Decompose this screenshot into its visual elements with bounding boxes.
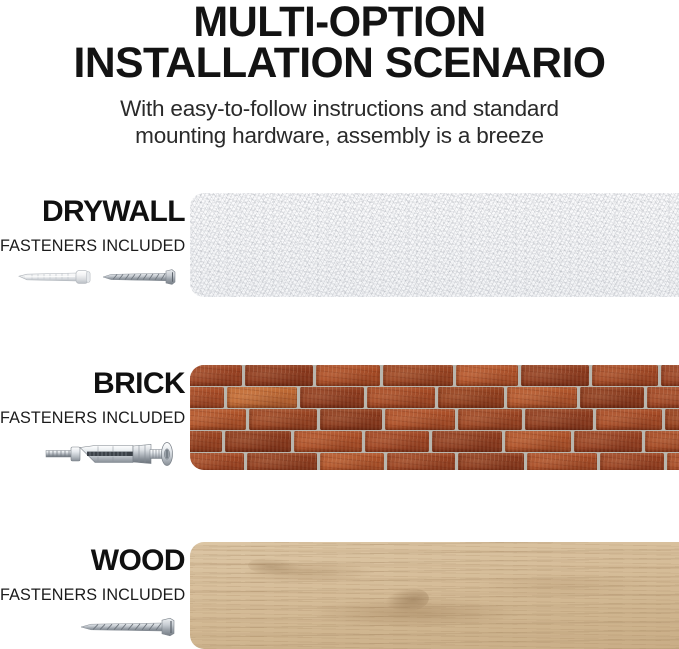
- wall-anchor-icon: [15, 267, 93, 287]
- material-name-brick: BRICK: [0, 369, 185, 399]
- fasteners-caption-wood: FASTENERS INCLUDED: [0, 586, 185, 605]
- brick-surface-swatch: [190, 365, 679, 470]
- material-row-brick: BRICK FASTENERS INCLUDED: [0, 365, 679, 470]
- wood-surface-swatch: [190, 542, 679, 649]
- screw-icon: [101, 267, 183, 287]
- molly-bolt-icon: [43, 439, 183, 469]
- page-subtitle: With easy-to-follow instructions and sta…: [0, 95, 679, 150]
- brick-pattern: [190, 365, 679, 470]
- fasteners-caption-drywall: FASTENERS INCLUDED: [0, 237, 185, 256]
- material-row-wood: WOOD FASTENERS INCLUDED: [0, 542, 679, 649]
- brick-hardware-group: [0, 439, 185, 469]
- header: MULTI-OPTION INSTALLATION SCENARIO With …: [0, 0, 679, 149]
- material-name-drywall: DRYWALL: [0, 197, 185, 227]
- drywall-hardware-group: [0, 267, 185, 287]
- material-name-wood: WOOD: [0, 546, 185, 576]
- page-title-line-1: MULTI-OPTION: [10, 2, 669, 43]
- wood-hardware-group: [0, 616, 185, 638]
- brick-label-column: BRICK FASTENERS INCLUDED: [0, 365, 190, 470]
- wood-screw-icon: [79, 616, 183, 638]
- wood-grain-knot: [384, 586, 430, 614]
- drywall-label-column: DRYWALL FASTENERS INCLUDED: [0, 193, 190, 297]
- material-row-drywall: DRYWALL FASTENERS INCLUDED: [0, 193, 679, 297]
- page-title-line-2: INSTALLATION SCENARIO: [3, 43, 675, 84]
- drywall-surface-swatch: [190, 193, 679, 297]
- wood-grain-knot-secondary: [247, 556, 304, 578]
- wood-label-column: WOOD FASTENERS INCLUDED: [0, 542, 190, 649]
- page-subtitle-line-2: mounting hardware, assembly is a breeze: [0, 122, 679, 149]
- page-subtitle-line-1: With easy-to-follow instructions and sta…: [0, 95, 679, 122]
- fasteners-caption-brick: FASTENERS INCLUDED: [0, 409, 185, 428]
